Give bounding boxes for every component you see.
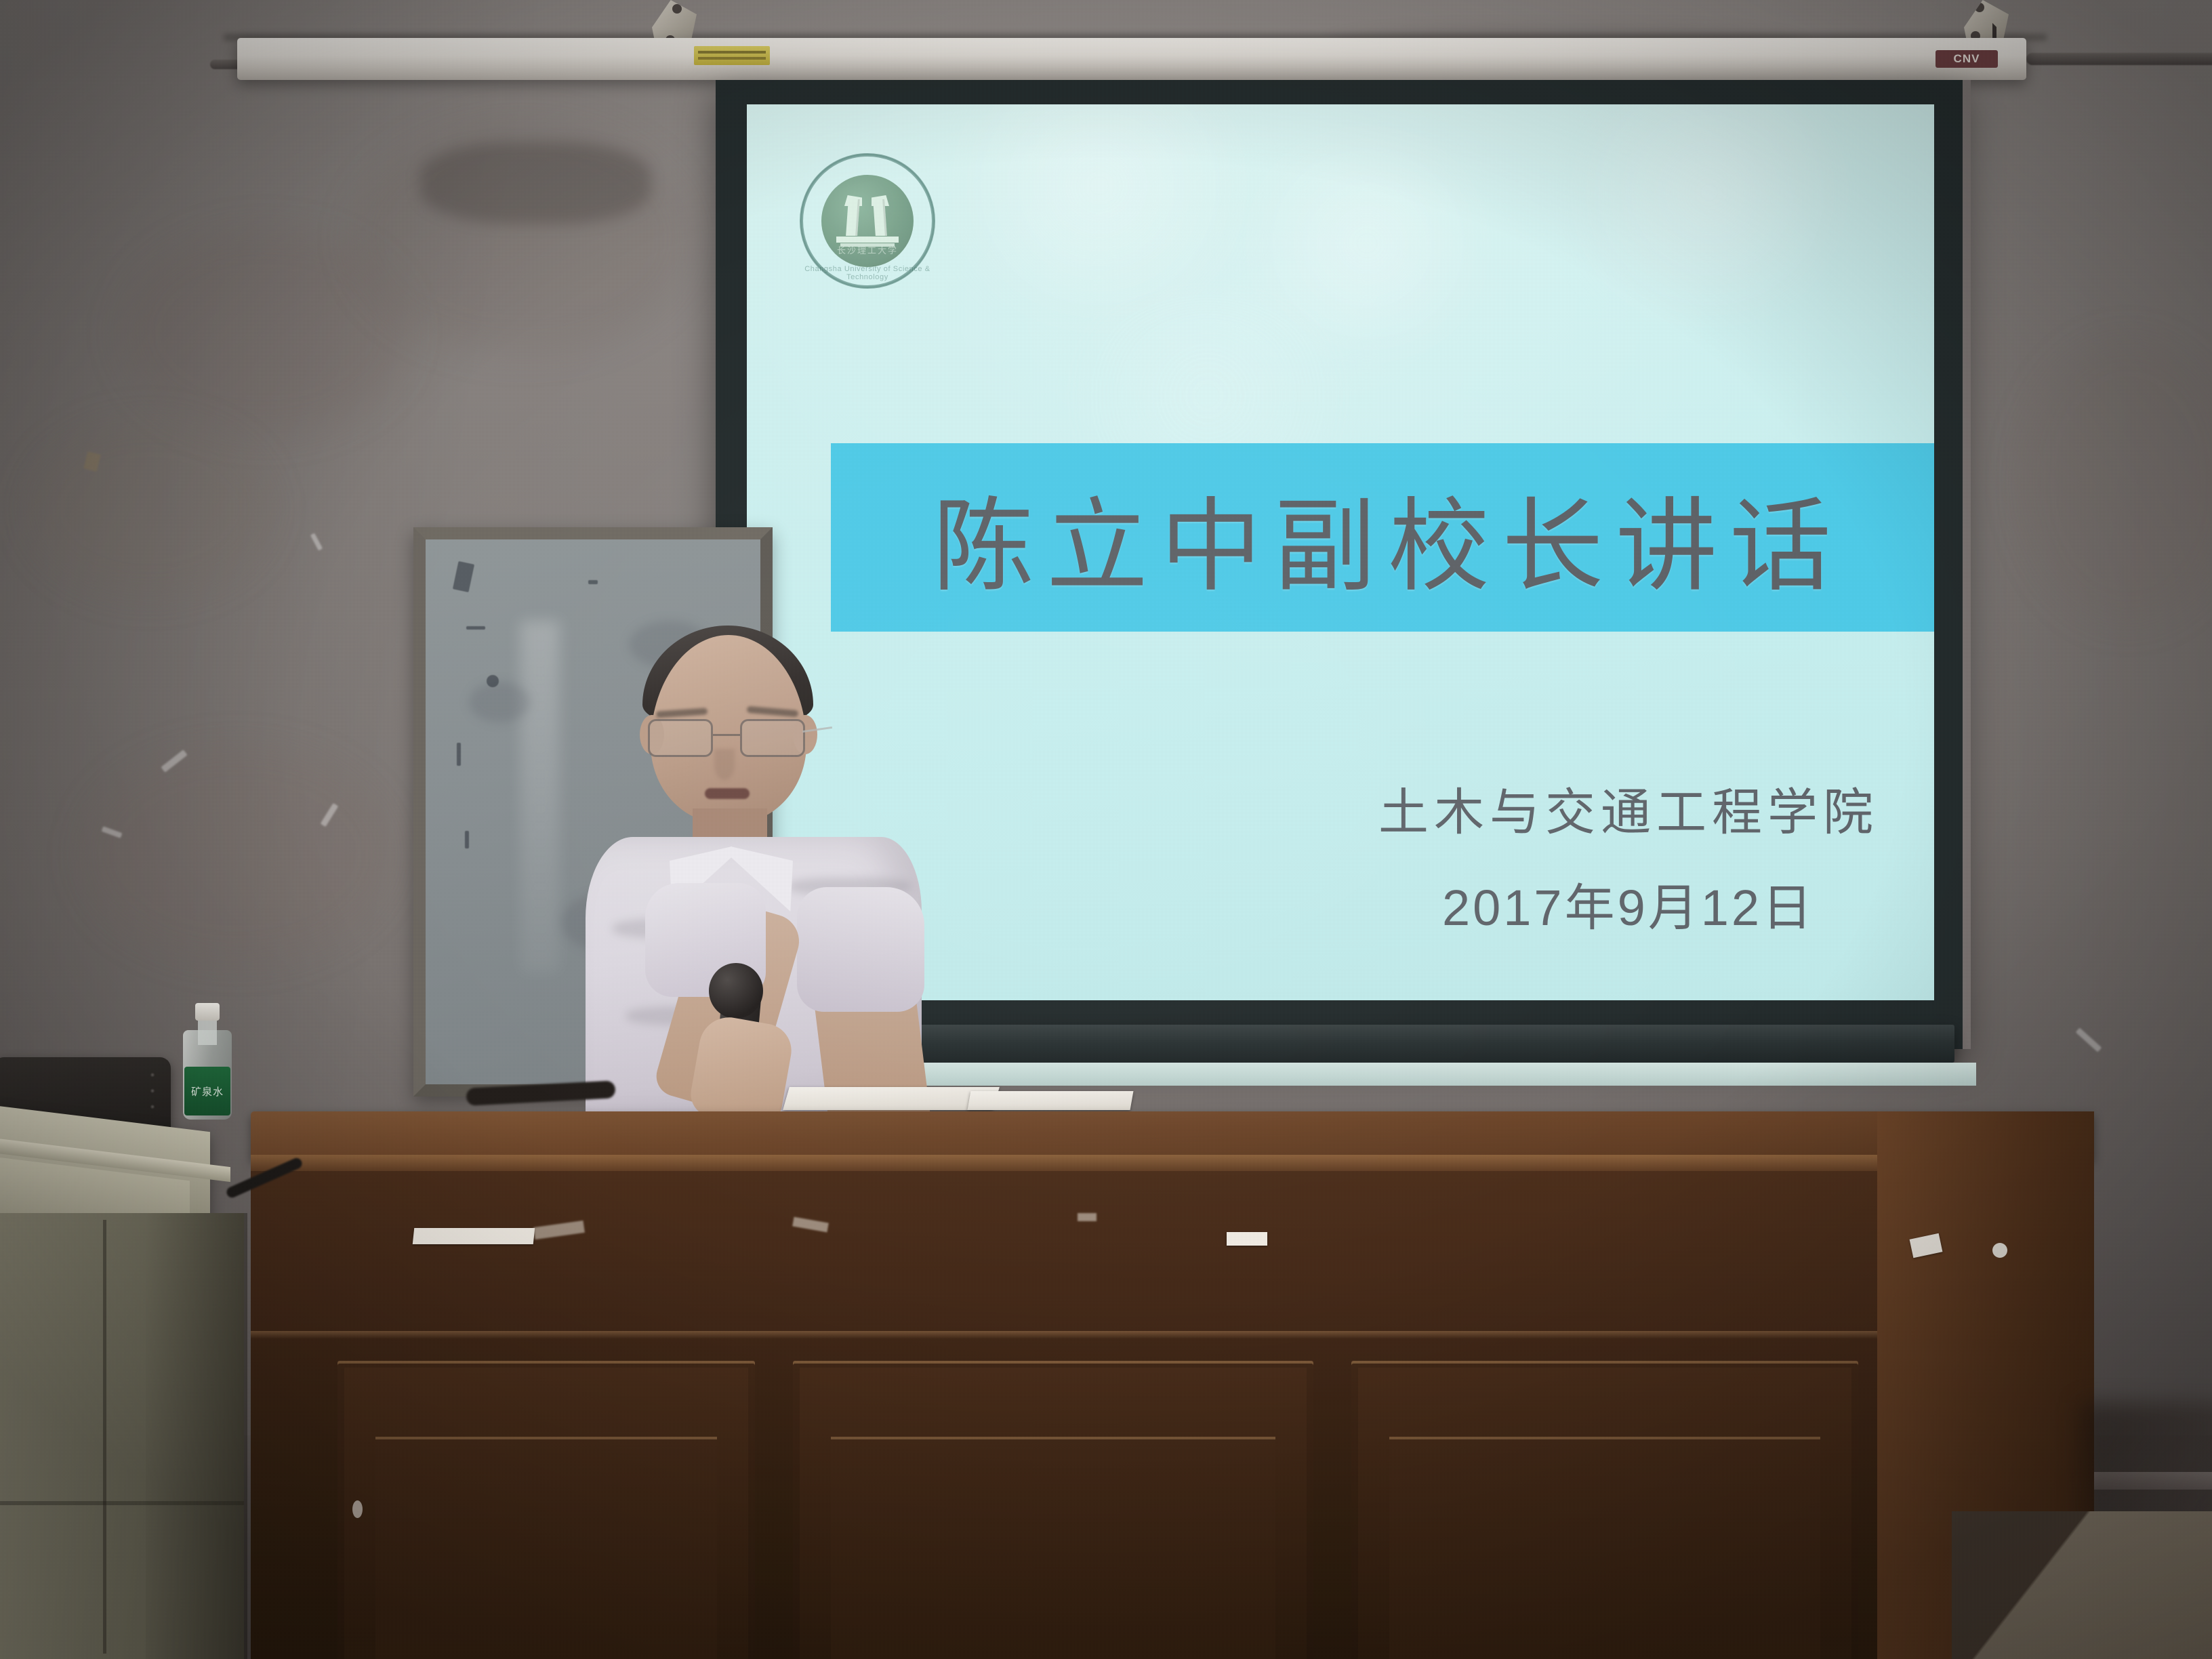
slide-title: 陈立中副校长讲话 <box>933 464 1843 611</box>
podium-panel <box>1351 1361 1858 1659</box>
projection-screen-roller-housing[interactable] <box>237 38 2026 80</box>
seal-ring-text-en: Changsha University of Science & Technol… <box>803 265 932 281</box>
slide-title-band: 陈立中副校长讲话 <box>831 443 1934 632</box>
slide-subtitle-block: 土木与交通工程学院 2017年9月12日 <box>1378 772 1879 940</box>
pillar-emblem-icon <box>832 195 903 247</box>
photo-scene: CNV 长沙理工大学 <box>0 0 2212 1659</box>
podium-dot-marker <box>1992 1243 2007 1258</box>
floor-shadow <box>1952 1511 2212 1659</box>
desk-paper-sheet[interactable] <box>968 1091 1134 1110</box>
bottle-cap <box>195 1003 220 1021</box>
slide-subtitle-date: 2017年9月12日 <box>1378 867 1879 940</box>
roller-warning-sticker <box>694 46 770 65</box>
podium-label-sticker <box>413 1228 535 1244</box>
seal-inner-caption: 长沙理工大学 <box>821 243 914 256</box>
university-seal-logo: 长沙理工大学 Changsha University of Science & … <box>800 153 935 289</box>
screen-brand-label: CNV <box>1954 52 1980 66</box>
slide-subtitle-org: 土木与交通工程学院 <box>1378 772 1879 844</box>
bottle-label: 矿泉水 <box>184 1067 230 1115</box>
podium-panel <box>793 1361 1313 1659</box>
desk-paper-sheet[interactable] <box>783 1087 1000 1110</box>
podium-front <box>251 1171 2094 1659</box>
podium-label-sticker <box>1227 1232 1267 1246</box>
microphone-head-icon <box>709 963 763 1019</box>
seal-inner-emblem: 长沙理工大学 <box>821 175 914 267</box>
podium-panel <box>337 1361 755 1659</box>
water-bottle[interactable]: 矿泉水 <box>183 1003 232 1120</box>
presenter <box>569 613 949 1128</box>
bottle-label-text: 矿泉水 <box>191 1084 224 1099</box>
podium-keyhole <box>352 1500 363 1518</box>
podium-surface <box>251 1111 2094 1160</box>
ceiling-rod-right <box>2026 53 2212 65</box>
screen-brand-tag: CNV <box>1935 50 1998 68</box>
wooden-podium[interactable]: 矿泉水 <box>251 1111 2094 1659</box>
